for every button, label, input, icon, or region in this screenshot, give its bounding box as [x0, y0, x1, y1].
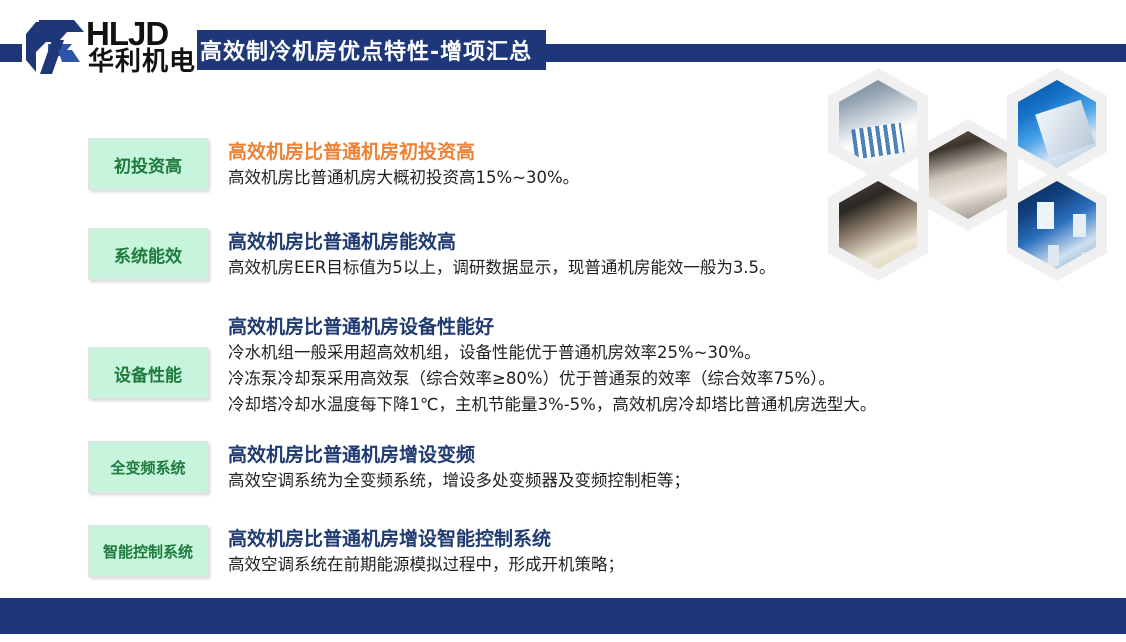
hex-photo-chart-review-image [839, 80, 917, 168]
feature-tag-label: 智能控制系统 [103, 541, 193, 562]
feature-row-initial-investment: 初投资高 高效机房比普通机房初投资高 高效机房比普通机房大概初投资高15%~30… [88, 138, 579, 191]
hex-photo-devices-image [1018, 181, 1096, 269]
feature-row-full-vfd-system: 全变频系统 高效机房比普通机房增设变频 高效空调系统为全变频系统，增设多处变频器… [88, 441, 690, 494]
hex-photo-blue-tablet-image [1018, 80, 1096, 168]
feature-body-line: 冷水机组一般采用超高效机组，设备性能优于普通机房效率25%~30%。 [228, 340, 876, 366]
feature-body-line: 冷冻泵冷却泵采用高效泵（综合效率≥80%）优于普通泵的效率（综合效率75%）。 [228, 366, 876, 392]
feature-tag-label: 设备性能 [114, 361, 182, 386]
feature-tag-system-efficiency: 系统能效 [88, 228, 208, 280]
feature-heading: 高效机房比普通机房增设智能控制系统 [228, 526, 624, 552]
feature-tag-full-vfd-system: 全变频系统 [88, 441, 208, 493]
hex-photo-meeting-image [929, 131, 1007, 219]
hex-photo-meeting [918, 119, 1018, 231]
company-logo: HLJD 华利机电 [22, 16, 197, 78]
feature-tag-label: 全变频系统 [110, 457, 185, 478]
slide-title-banner: 高效制冷机房优点特性-增项汇总 [186, 30, 546, 70]
feature-heading: 高效机房比普通机房增设变频 [228, 442, 690, 468]
footer-navy-bar [0, 598, 1126, 634]
hexagon-photo-cluster [818, 66, 1118, 281]
hex-photo-blue-tablet [1007, 68, 1107, 180]
feature-tag-label: 初投资高 [114, 152, 182, 177]
hex-photo-desk-notes [828, 169, 928, 281]
feature-body-initial-investment: 高效机房比普通机房初投资高 高效机房比普通机房大概初投资高15%~30%。 [228, 138, 579, 191]
logo-text-cn: 华利机电 [88, 49, 196, 76]
feature-tag-intelligent-control: 智能控制系统 [88, 525, 208, 577]
feature-heading: 高效机房比普通机房能效高 [228, 229, 776, 255]
feature-body-system-efficiency: 高效机房比普通机房能效高 高效机房EER目标值为5以上，调研数据显示，现普通机房… [228, 228, 776, 281]
feature-body-intelligent-control: 高效机房比普通机房增设智能控制系统 高效空调系统在前期能源模拟过程中，形成开机策… [228, 525, 624, 578]
feature-body-line: 高效空调系统为全变频系统，增设多处变频器及变频控制柜等； [228, 468, 690, 494]
hex-photo-desk-notes-image [839, 181, 917, 269]
feature-body-line: 高效空调系统在前期能源模拟过程中，形成开机策略； [228, 552, 624, 578]
feature-body-line: 高效机房比普通机房大概初投资高15%~30%。 [228, 165, 579, 191]
feature-tag-equipment-performance: 设备性能 [88, 347, 208, 399]
footer-white-strip [0, 634, 1126, 642]
feature-body-line: 冷却塔冷却水温度每下降1℃，主机节能量3%-5%，高效机房冷却塔比普通机房选型大… [228, 392, 876, 418]
feature-tag-initial-investment: 初投资高 [88, 138, 208, 190]
hex-photo-devices [1007, 169, 1107, 281]
feature-heading: 高效机房比普通机房初投资高 [228, 139, 579, 165]
feature-tag-label: 系统能效 [114, 242, 182, 267]
feature-body-full-vfd-system: 高效机房比普通机房增设变频 高效空调系统为全变频系统，增设多处变频器及变频控制柜… [228, 441, 690, 494]
page-title: 高效制冷机房优点特性-增项汇总 [200, 34, 532, 66]
feature-body-line: 高效机房EER目标值为5以上，调研数据显示，现普通机房能效一般为3.5。 [228, 255, 776, 281]
hljd-monogram-logo-icon [22, 18, 84, 76]
feature-heading: 高效机房比普通机房设备性能好 [228, 314, 876, 340]
feature-row-intelligent-control: 智能控制系统 高效机房比普通机房增设智能控制系统 高效空调系统在前期能源模拟过程… [88, 525, 624, 578]
hex-photo-chart-review [828, 68, 928, 180]
feature-body-equipment-performance: 高效机房比普通机房设备性能好 冷水机组一般采用超高效机组，设备性能优于普通机房效… [228, 313, 876, 418]
slide: HLJD 华利机电 高效制冷机房优点特性-增项汇总 [0, 0, 1126, 642]
feature-row-equipment-performance: 设备性能 高效机房比普通机房设备性能好 冷水机组一般采用超高效机组，设备性能优于… [88, 313, 876, 418]
logo-text-en: HLJD [86, 17, 168, 50]
feature-row-system-efficiency: 系统能效 高效机房比普通机房能效高 高效机房EER目标值为5以上，调研数据显示，… [88, 228, 776, 281]
